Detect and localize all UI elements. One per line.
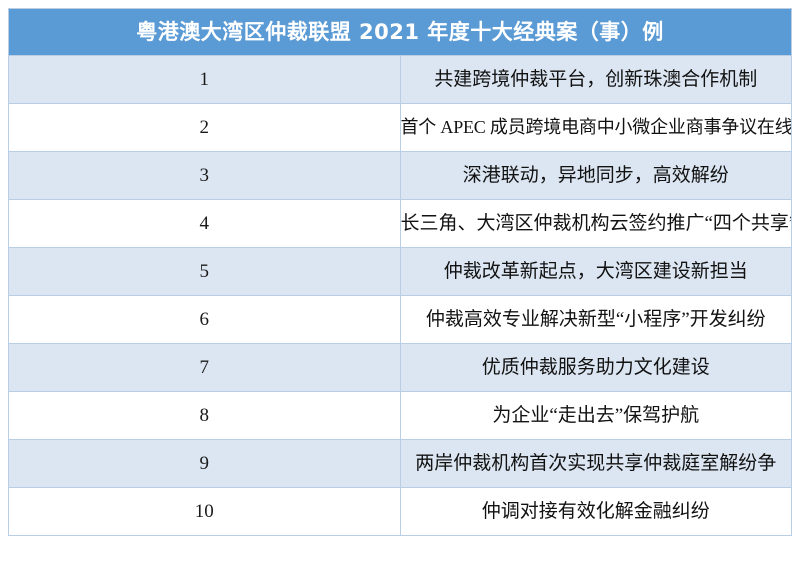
table-row: 2 首个 APEC 成员跨境电商中小微企业商事争议在线解决平台正式上线 [9, 104, 792, 152]
case-name-cell: 长三角、大湾区仲裁机构云签约推广“四个共享” [400, 200, 792, 248]
rank-cell: 4 [9, 200, 401, 248]
case-name-cell: 优质仲裁服务助力文化建设 [400, 344, 792, 392]
table-row: 7 优质仲裁服务助力文化建设 [9, 344, 792, 392]
table-row: 1 共建跨境仲裁平台，创新珠澳合作机制 [9, 56, 792, 104]
rank-cell: 3 [9, 152, 401, 200]
case-name-cell: 首个 APEC 成员跨境电商中小微企业商事争议在线解决平台正式上线 [400, 104, 792, 152]
table-row: 10 仲调对接有效化解金融纠纷 [9, 488, 792, 536]
rank-cell: 8 [9, 392, 401, 440]
rank-cell: 6 [9, 296, 401, 344]
case-name-cell: 共建跨境仲裁平台，创新珠澳合作机制 [400, 56, 792, 104]
table-title-row: 粤港澳大湾区仲裁联盟 2021 年度十大经典案（事）例 [9, 9, 792, 56]
table-row: 9 两岸仲裁机构首次实现共享仲裁庭室解纷争 [9, 440, 792, 488]
table-row: 4 长三角、大湾区仲裁机构云签约推广“四个共享” [9, 200, 792, 248]
case-name-cell: 深港联动，异地同步，高效解纷 [400, 152, 792, 200]
rank-cell: 5 [9, 248, 401, 296]
table-row: 8 为企业“走出去”保驾护航 [9, 392, 792, 440]
rank-cell: 2 [9, 104, 401, 152]
table-row: 5 仲裁改革新起点，大湾区建设新担当 [9, 248, 792, 296]
case-name-cell: 为企业“走出去”保驾护航 [400, 392, 792, 440]
top-ten-cases-table: 粤港澳大湾区仲裁联盟 2021 年度十大经典案（事）例 1 共建跨境仲裁平台，创… [8, 8, 792, 536]
rank-cell: 9 [9, 440, 401, 488]
case-name-cell: 仲调对接有效化解金融纠纷 [400, 488, 792, 536]
document-page: 粤港澳大湾区仲裁联盟 2021 年度十大经典案（事）例 1 共建跨境仲裁平台，创… [0, 0, 800, 563]
rank-cell: 7 [9, 344, 401, 392]
case-name-cell: 仲裁高效专业解决新型“小程序”开发纠纷 [400, 296, 792, 344]
case-name-cell: 两岸仲裁机构首次实现共享仲裁庭室解纷争 [400, 440, 792, 488]
table-row: 6 仲裁高效专业解决新型“小程序”开发纠纷 [9, 296, 792, 344]
table-row: 3 深港联动，异地同步，高效解纷 [9, 152, 792, 200]
table-title: 粤港澳大湾区仲裁联盟 2021 年度十大经典案（事）例 [9, 9, 792, 56]
rank-cell: 10 [9, 488, 401, 536]
table-body: 粤港澳大湾区仲裁联盟 2021 年度十大经典案（事）例 1 共建跨境仲裁平台，创… [9, 9, 792, 536]
rank-cell: 1 [9, 56, 401, 104]
case-name-cell: 仲裁改革新起点，大湾区建设新担当 [400, 248, 792, 296]
